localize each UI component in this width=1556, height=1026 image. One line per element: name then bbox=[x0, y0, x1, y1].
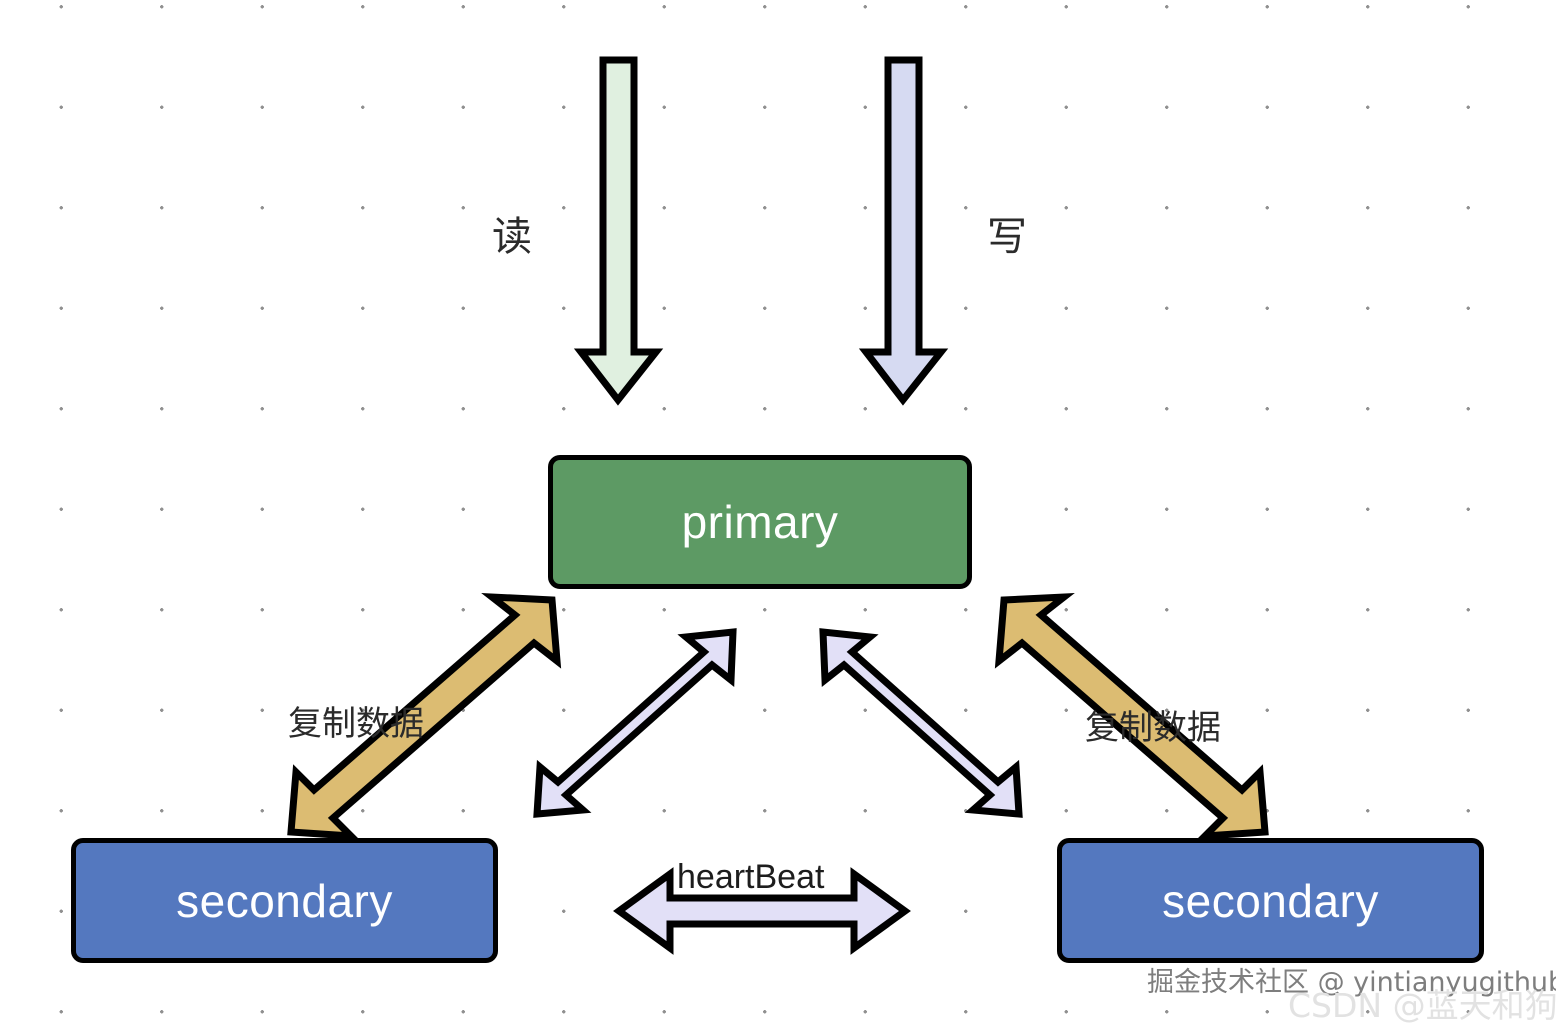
write-down-arrow bbox=[866, 60, 941, 400]
heartbeat-label: heartBeat bbox=[677, 858, 824, 897]
replicate-right-label: 复制数据 bbox=[1085, 700, 1221, 749]
read-down-arrow bbox=[581, 60, 656, 400]
secondary-right-node[interactable]: secondary bbox=[1057, 838, 1484, 963]
csdn-watermark: CSDN @蓝天和狗狗 bbox=[1288, 979, 1556, 1026]
secondary-left-node[interactable]: secondary bbox=[71, 838, 498, 963]
heartbeat-right-diagonal-arrow bbox=[823, 632, 1019, 814]
diagram-canvas: primary secondary secondary 读 写 复制数据 复制数… bbox=[0, 0, 1556, 1026]
heartbeat-left-diagonal-arrow bbox=[537, 632, 733, 814]
replicate-left-label: 复制数据 bbox=[288, 696, 424, 745]
primary-node-label: primary bbox=[682, 495, 839, 549]
secondary-left-node-label: secondary bbox=[176, 874, 393, 928]
read-label: 读 bbox=[492, 204, 532, 262]
write-label: 写 bbox=[987, 204, 1027, 262]
primary-node[interactable]: primary bbox=[548, 455, 972, 589]
secondary-right-node-label: secondary bbox=[1162, 874, 1379, 928]
